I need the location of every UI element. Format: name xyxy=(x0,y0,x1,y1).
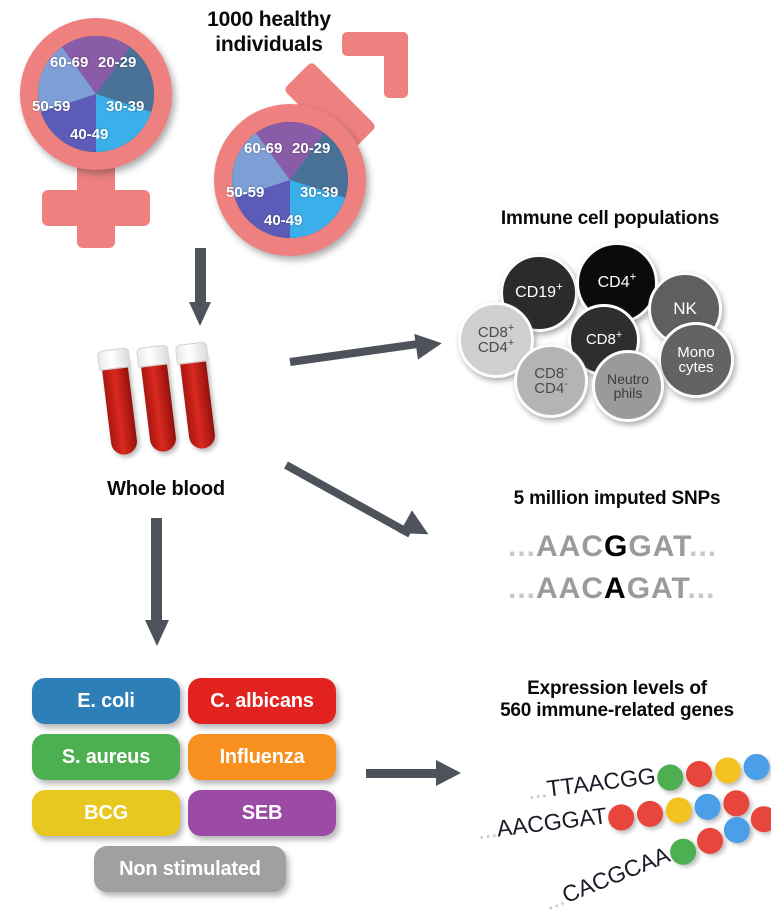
arrow-blood-to-immune xyxy=(290,330,460,380)
snp-trail: ... xyxy=(687,572,715,605)
expression-bead xyxy=(713,756,742,785)
tube-body xyxy=(140,355,178,453)
immune-cell-label: Monocytes xyxy=(677,345,715,376)
snp-allele: G xyxy=(604,530,628,563)
immune-cell-label: CD19+ xyxy=(515,285,563,301)
arrow-head xyxy=(414,330,443,359)
female-gender-symbol: 20-29 30-39 40-49 50-59 60-69 xyxy=(10,10,190,255)
arrow-shaft xyxy=(195,248,206,304)
snp-post: GAT xyxy=(628,530,689,563)
strand-bases: AACGGAT xyxy=(495,802,608,841)
strand-sequence: ...AACGGAT xyxy=(476,802,608,844)
expression-title-line1: Expression levels of xyxy=(466,678,768,700)
expression-bead xyxy=(655,763,684,792)
male-pie-label-50-59: 50-59 xyxy=(226,184,264,201)
immune-cell-neutrophils: Neutrophils xyxy=(592,350,664,422)
stimulus-bcg[interactable]: BCG xyxy=(32,790,180,836)
expression-title: Expression levels of 560 immune-related … xyxy=(466,678,768,723)
female-pie-label-40-49: 40-49 xyxy=(70,126,108,143)
snp-pre: AAC xyxy=(536,572,604,605)
strand-bases: CACGCAA xyxy=(558,841,673,908)
tube-body xyxy=(101,358,139,456)
male-pie-label-40-49: 40-49 xyxy=(264,212,302,229)
expression-bead xyxy=(747,802,771,836)
male-pie-label-20-29: 20-29 xyxy=(292,140,330,157)
snp-sequence-top: ...AACGGAT... xyxy=(508,530,717,564)
strand-bases: TTAACGG xyxy=(545,762,657,801)
snp-lead: ... xyxy=(508,530,536,563)
immune-cell-label: CD4+ xyxy=(598,275,637,291)
female-pie-label-50-59: 50-59 xyxy=(32,98,70,115)
arrow-shaft xyxy=(284,462,412,538)
stimuli-group: E. coli C. albicans S. aureus Influenza … xyxy=(32,678,352,898)
immune-cell-cd8neg-cd4neg: CD8-CD4- xyxy=(514,344,588,418)
immune-cell-monocytes: Monocytes xyxy=(658,322,734,398)
tube-neck xyxy=(175,341,209,365)
snp-lead: ... xyxy=(508,572,536,605)
tube-body xyxy=(179,352,217,450)
stimulus-non-stimulated[interactable]: Non stimulated xyxy=(94,846,286,892)
arrow-blood-to-stimuli xyxy=(140,518,172,648)
immune-cell-cluster: CD19+ CD4+ NK CD8+CD4+ CD8+ Monocytes CD… xyxy=(452,240,762,425)
tube-neck xyxy=(136,344,170,368)
male-symbol-arrowhead-bar2 xyxy=(384,32,408,98)
female-symbol-crossbar xyxy=(42,190,150,226)
stimulus-influenza[interactable]: Influenza xyxy=(188,734,336,780)
snps-title: 5 million imputed SNPs xyxy=(470,488,764,510)
strand-sequence: ...CACGCAA xyxy=(540,841,673,915)
arrow-shaft xyxy=(151,518,162,622)
snp-post: GAT xyxy=(627,572,688,605)
expression-bead xyxy=(720,813,754,847)
male-gender-symbol: 20-29 30-39 40-49 50-59 60-69 xyxy=(200,20,440,250)
expression-bead xyxy=(635,799,664,828)
arrow-head xyxy=(145,620,169,646)
immune-cell-label: CD8-CD4- xyxy=(534,366,568,397)
figure-canvas: 1000 healthy individuals 20-29 30-39 40-… xyxy=(0,0,771,922)
male-pie-label-60-69: 60-69 xyxy=(244,140,282,157)
female-pie-label-20-29: 20-29 xyxy=(98,54,136,71)
arrow-head xyxy=(189,302,211,326)
snp-allele: A xyxy=(604,572,627,605)
stimulus-s-aureus[interactable]: S. aureus xyxy=(32,734,180,780)
immune-cell-label: NK xyxy=(673,300,697,317)
expression-bead xyxy=(664,796,693,825)
expression-bead xyxy=(693,824,727,858)
arrow-shaft xyxy=(289,339,423,366)
immune-cell-label: Neutrophils xyxy=(607,372,649,401)
expression-bead xyxy=(742,752,771,781)
tube-neck xyxy=(97,347,131,371)
snp-pre: AAC xyxy=(536,530,604,563)
arrow-head xyxy=(399,510,434,545)
arrow-cohort-to-blood xyxy=(186,248,216,328)
expression-bead xyxy=(693,792,722,821)
expression-strands-group: ...TTAACGG ...AACGGAT ...CACGCAA xyxy=(450,740,771,915)
female-pie-label-30-39: 30-39 xyxy=(106,98,144,115)
snp-trail: ... xyxy=(689,530,717,563)
stimulus-seb[interactable]: SEB xyxy=(188,790,336,836)
stimulus-e-coli[interactable]: E. coli xyxy=(32,678,180,724)
immune-cell-label: CD8+CD4+ xyxy=(478,325,514,356)
immune-cell-label: CD8+ xyxy=(586,332,622,347)
blood-tube xyxy=(178,341,224,462)
male-pie-label-30-39: 30-39 xyxy=(300,184,338,201)
expression-bead xyxy=(607,803,636,832)
whole-blood-label: Whole blood xyxy=(76,478,256,502)
immune-title: Immune cell populations xyxy=(452,208,768,230)
female-pie-label-60-69: 60-69 xyxy=(50,54,88,71)
stimulus-c-albicans[interactable]: C. albicans xyxy=(188,678,336,724)
arrow-shaft xyxy=(366,769,438,778)
arrow-blood-to-snps xyxy=(286,455,466,565)
expression-title-line2: 560 immune-related genes xyxy=(466,700,768,722)
expression-bead xyxy=(684,759,713,788)
blood-tubes-group xyxy=(108,340,248,470)
snp-sequence-bottom: ...AACAGAT... xyxy=(508,572,715,606)
